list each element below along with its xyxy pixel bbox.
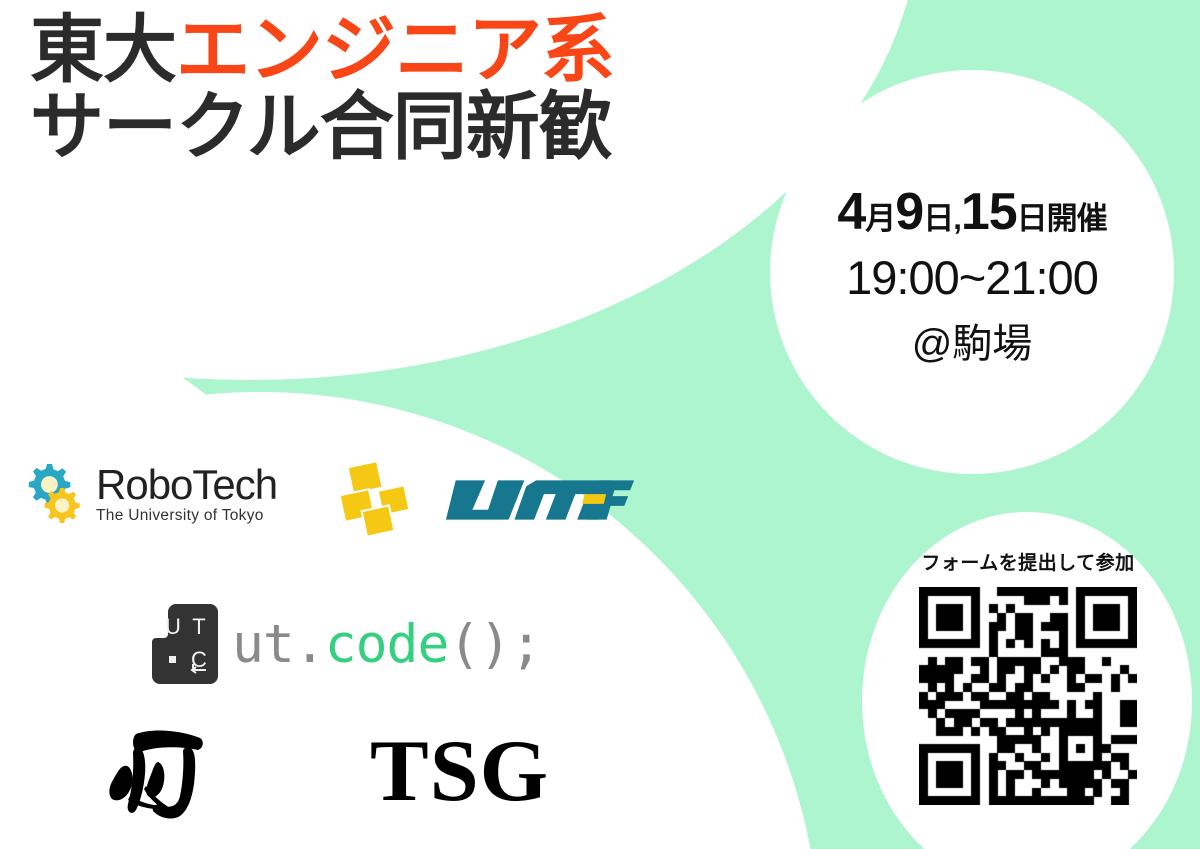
utcode-accent: code bbox=[325, 614, 449, 675]
title-prefix: 東大 bbox=[30, 8, 176, 91]
event-month-number: 4 bbox=[837, 183, 865, 241]
utcode-prefix: ut. bbox=[232, 614, 325, 675]
qr-section: フォームを提出して参加 bbox=[872, 548, 1184, 805]
poster-canvas: 東大エンジニア系 サークル合同新歓 4月9日,15日開催 19:00~21:00… bbox=[0, 0, 1200, 849]
event-date-line: 4月9日,15日開催 bbox=[772, 182, 1172, 242]
logo-robotech: RoboTech The University of Tokyo bbox=[18, 458, 277, 530]
logo-utcode: U T C ut.code(); bbox=[152, 604, 541, 684]
qr-code-icon[interactable] bbox=[919, 587, 1137, 805]
title-line-1: 東大エンジニア系 bbox=[30, 14, 614, 87]
event-time: 19:00~21:00 bbox=[772, 250, 1172, 305]
logo-umf bbox=[340, 462, 638, 538]
event-place: @駒場 bbox=[772, 311, 1172, 369]
event-month-unit: 月 bbox=[865, 201, 895, 236]
robotech-subtitle: The University of Tokyo bbox=[96, 507, 277, 525]
qr-caption: フォームを提出して参加 bbox=[872, 548, 1184, 575]
logo-tsg-mark bbox=[100, 726, 220, 826]
utcode-wordmark: ut.code(); bbox=[232, 618, 541, 671]
event-day1-number: 9 bbox=[895, 183, 923, 241]
robotech-name: RoboTech bbox=[96, 464, 277, 506]
svg-text:U: U bbox=[165, 614, 181, 639]
umf-wordmark bbox=[442, 476, 638, 524]
brush-kanji-icon bbox=[100, 726, 220, 826]
event-date-suffix: 開催 bbox=[1047, 201, 1107, 236]
event-date-separator: , bbox=[953, 201, 961, 236]
tsg-wordmark: TSG bbox=[370, 728, 549, 816]
event-day2-number: 15 bbox=[961, 183, 1017, 241]
robotech-text-block: RoboTech The University of Tokyo bbox=[96, 464, 277, 525]
two-gears-icon bbox=[18, 458, 90, 530]
event-day1-unit: 日 bbox=[923, 201, 953, 236]
svg-text:T: T bbox=[192, 614, 205, 639]
title-line-2: サークル合同新歓 bbox=[30, 91, 614, 164]
utc-badge-icon: U T C bbox=[152, 604, 218, 684]
event-details: 4月9日,15日開催 19:00~21:00 @駒場 bbox=[772, 182, 1172, 369]
title-accent: エンジニア系 bbox=[176, 8, 614, 91]
logo-tsg: TSG bbox=[370, 728, 549, 816]
poster-title: 東大エンジニア系 サークル合同新歓 bbox=[30, 14, 614, 163]
four-tilted-squares-icon bbox=[340, 462, 428, 538]
utcode-suffix: (); bbox=[448, 614, 541, 675]
event-day2-unit: 日 bbox=[1017, 201, 1047, 236]
